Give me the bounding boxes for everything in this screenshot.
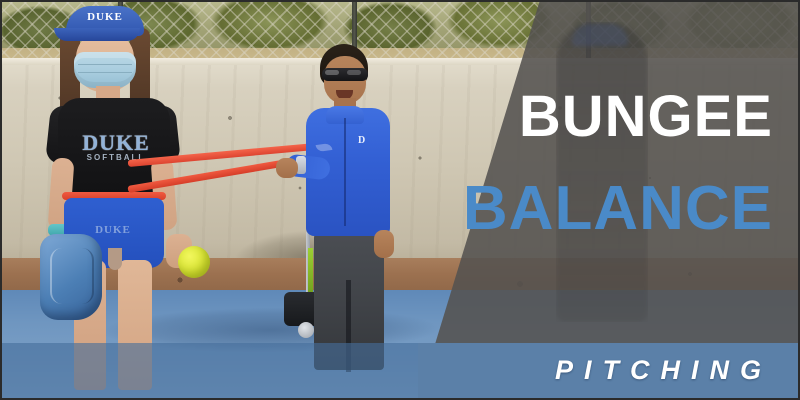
video-thumbnail: DUKE DUKE SOFTBALL DUKE [0, 0, 800, 400]
player-cap-brim [54, 28, 140, 41]
shorts-logo-text: DUKE [80, 224, 146, 236]
face-mask-icon [74, 52, 136, 88]
softball-icon [178, 246, 210, 278]
ghosted-figure-cap [572, 24, 628, 46]
player-shorts-notch [108, 248, 122, 270]
coach-hand-right [374, 230, 394, 258]
jacket-logo-text: D [358, 134, 374, 147]
coach-jacket-zipper [344, 118, 346, 226]
cap-logo-text: DUKE [84, 11, 126, 24]
coach-hand-left [276, 158, 298, 178]
baseball-glove-icon [40, 234, 102, 320]
sunglasses-icon [322, 68, 368, 81]
ghosted-figure [556, 22, 648, 322]
category-label: PITCHING [0, 355, 772, 385]
pitching-coach: D [292, 44, 412, 374]
softball-player: DUKE DUKE SOFTBALL DUKE [38, 2, 213, 400]
